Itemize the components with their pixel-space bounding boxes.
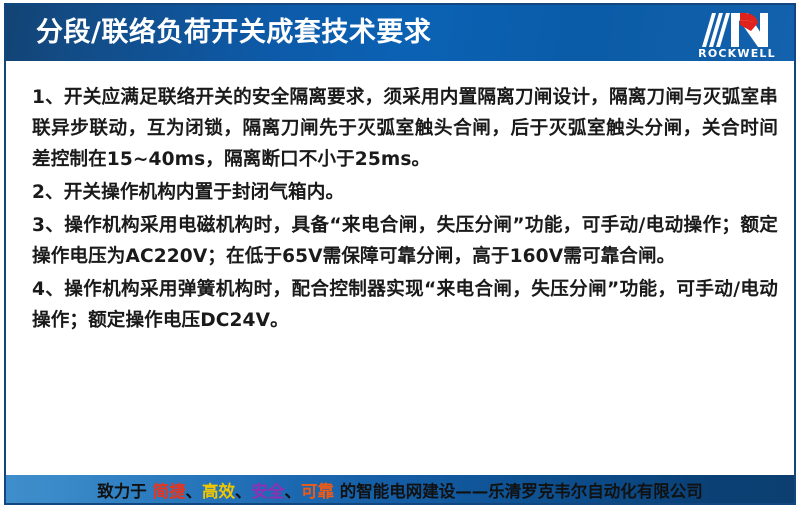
footer-sep-2: 、 [235, 482, 252, 501]
rockwell-wordmark: ROCKWELL [690, 47, 784, 60]
footer-suffix: 的智能电网建设——乐清罗克韦尔自动化有限公司 [334, 482, 703, 501]
body-item-2: 2、开关操作机构内置于封闭气箱内。 [32, 177, 778, 208]
footer-keyword-3: 安全 [252, 482, 285, 501]
slide: 分段/联络负荷开关成套技术要求 ROCKWELL [0, 0, 800, 508]
footer-keyword-4: 可靠 [301, 482, 334, 501]
body-item-1: 1、开关应满足联络开关的安全隔离要求，须采用内置隔离刀闸设计，隔离刀闸与灭弧室串… [32, 82, 778, 175]
rockwell-logo: ROCKWELL [690, 9, 784, 59]
footer-sep-1: 、 [186, 482, 203, 501]
slide-footer: 致力于 简捷、高效、安全、可靠 的智能电网建设——乐清罗克韦尔自动化有限公司 [6, 475, 794, 503]
footer-prefix: 致力于 [97, 482, 152, 501]
footer-sep-3: 、 [285, 482, 302, 501]
body-item-3: 3、操作机构采用电磁机构时，具备“来电合闸，失压分闸”功能，可手动/电动操作；额… [32, 210, 778, 272]
slide-body: 1、开关应满足联络开关的安全隔离要求，须采用内置隔离刀闸设计，隔离刀闸与灭弧室串… [8, 64, 792, 470]
footer-tagline: 致力于 简捷、高效、安全、可靠 的智能电网建设——乐清罗克韦尔自动化有限公司 [6, 478, 794, 502]
footer-keyword-1: 简捷 [153, 482, 186, 501]
slide-header: 分段/联络负荷开关成套技术要求 ROCKWELL [6, 5, 794, 61]
footer-keyword-2: 高效 [202, 482, 235, 501]
page-title: 分段/联络负荷开关成套技术要求 [36, 14, 431, 52]
body-item-4: 4、操作机构采用弹簧机构时，配合控制器实现“来电合闸，失压分闸”功能，可手动/电… [32, 274, 778, 336]
